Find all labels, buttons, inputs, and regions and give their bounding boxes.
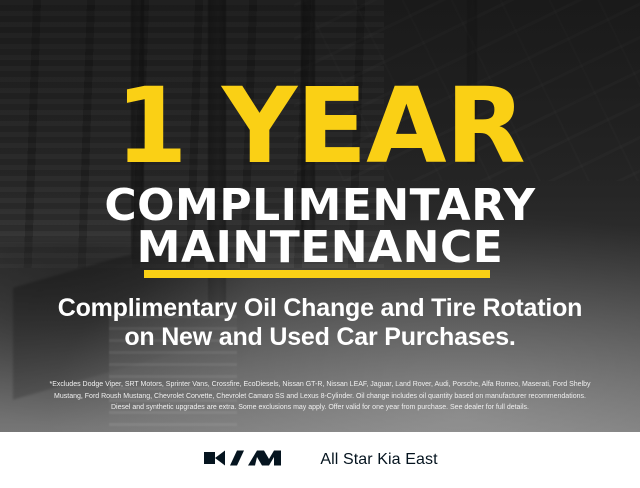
- kia-logo: [202, 445, 298, 476]
- promo-description-line-1: Complimentary Oil Change and Tire Rotati…: [0, 293, 640, 324]
- disclaimer-text: *Excludes Dodge Viper, SRT Motors, Sprin…: [14, 379, 626, 414]
- brand-lockup: All Star Kia East: [202, 445, 437, 476]
- dealer-name: All Star Kia East: [320, 451, 437, 469]
- disclaimer-line: *Excludes Dodge Viper, SRT Motors, Sprin…: [14, 379, 626, 391]
- yellow-divider-rule: [144, 270, 490, 278]
- headline-primary: 1 YEAR: [0, 74, 640, 178]
- promo-description-line-2: on New and Used Car Purchases.: [0, 322, 640, 353]
- hero-content: 1 YEAR COMPLIMENTARY MAINTENANCE Complim…: [0, 0, 640, 488]
- promotional-banner: 1 YEAR COMPLIMENTARY MAINTENANCE Complim…: [0, 0, 640, 488]
- disclaimer-line: Mustang, Ford Roush Mustang, Chevrolet C…: [14, 391, 626, 403]
- headline-secondary-line-2: MAINTENANCE: [0, 226, 640, 270]
- footer-bar: All Star Kia East: [0, 432, 640, 488]
- disclaimer-line: Diesel and synthetic upgrades are extra.…: [14, 402, 626, 414]
